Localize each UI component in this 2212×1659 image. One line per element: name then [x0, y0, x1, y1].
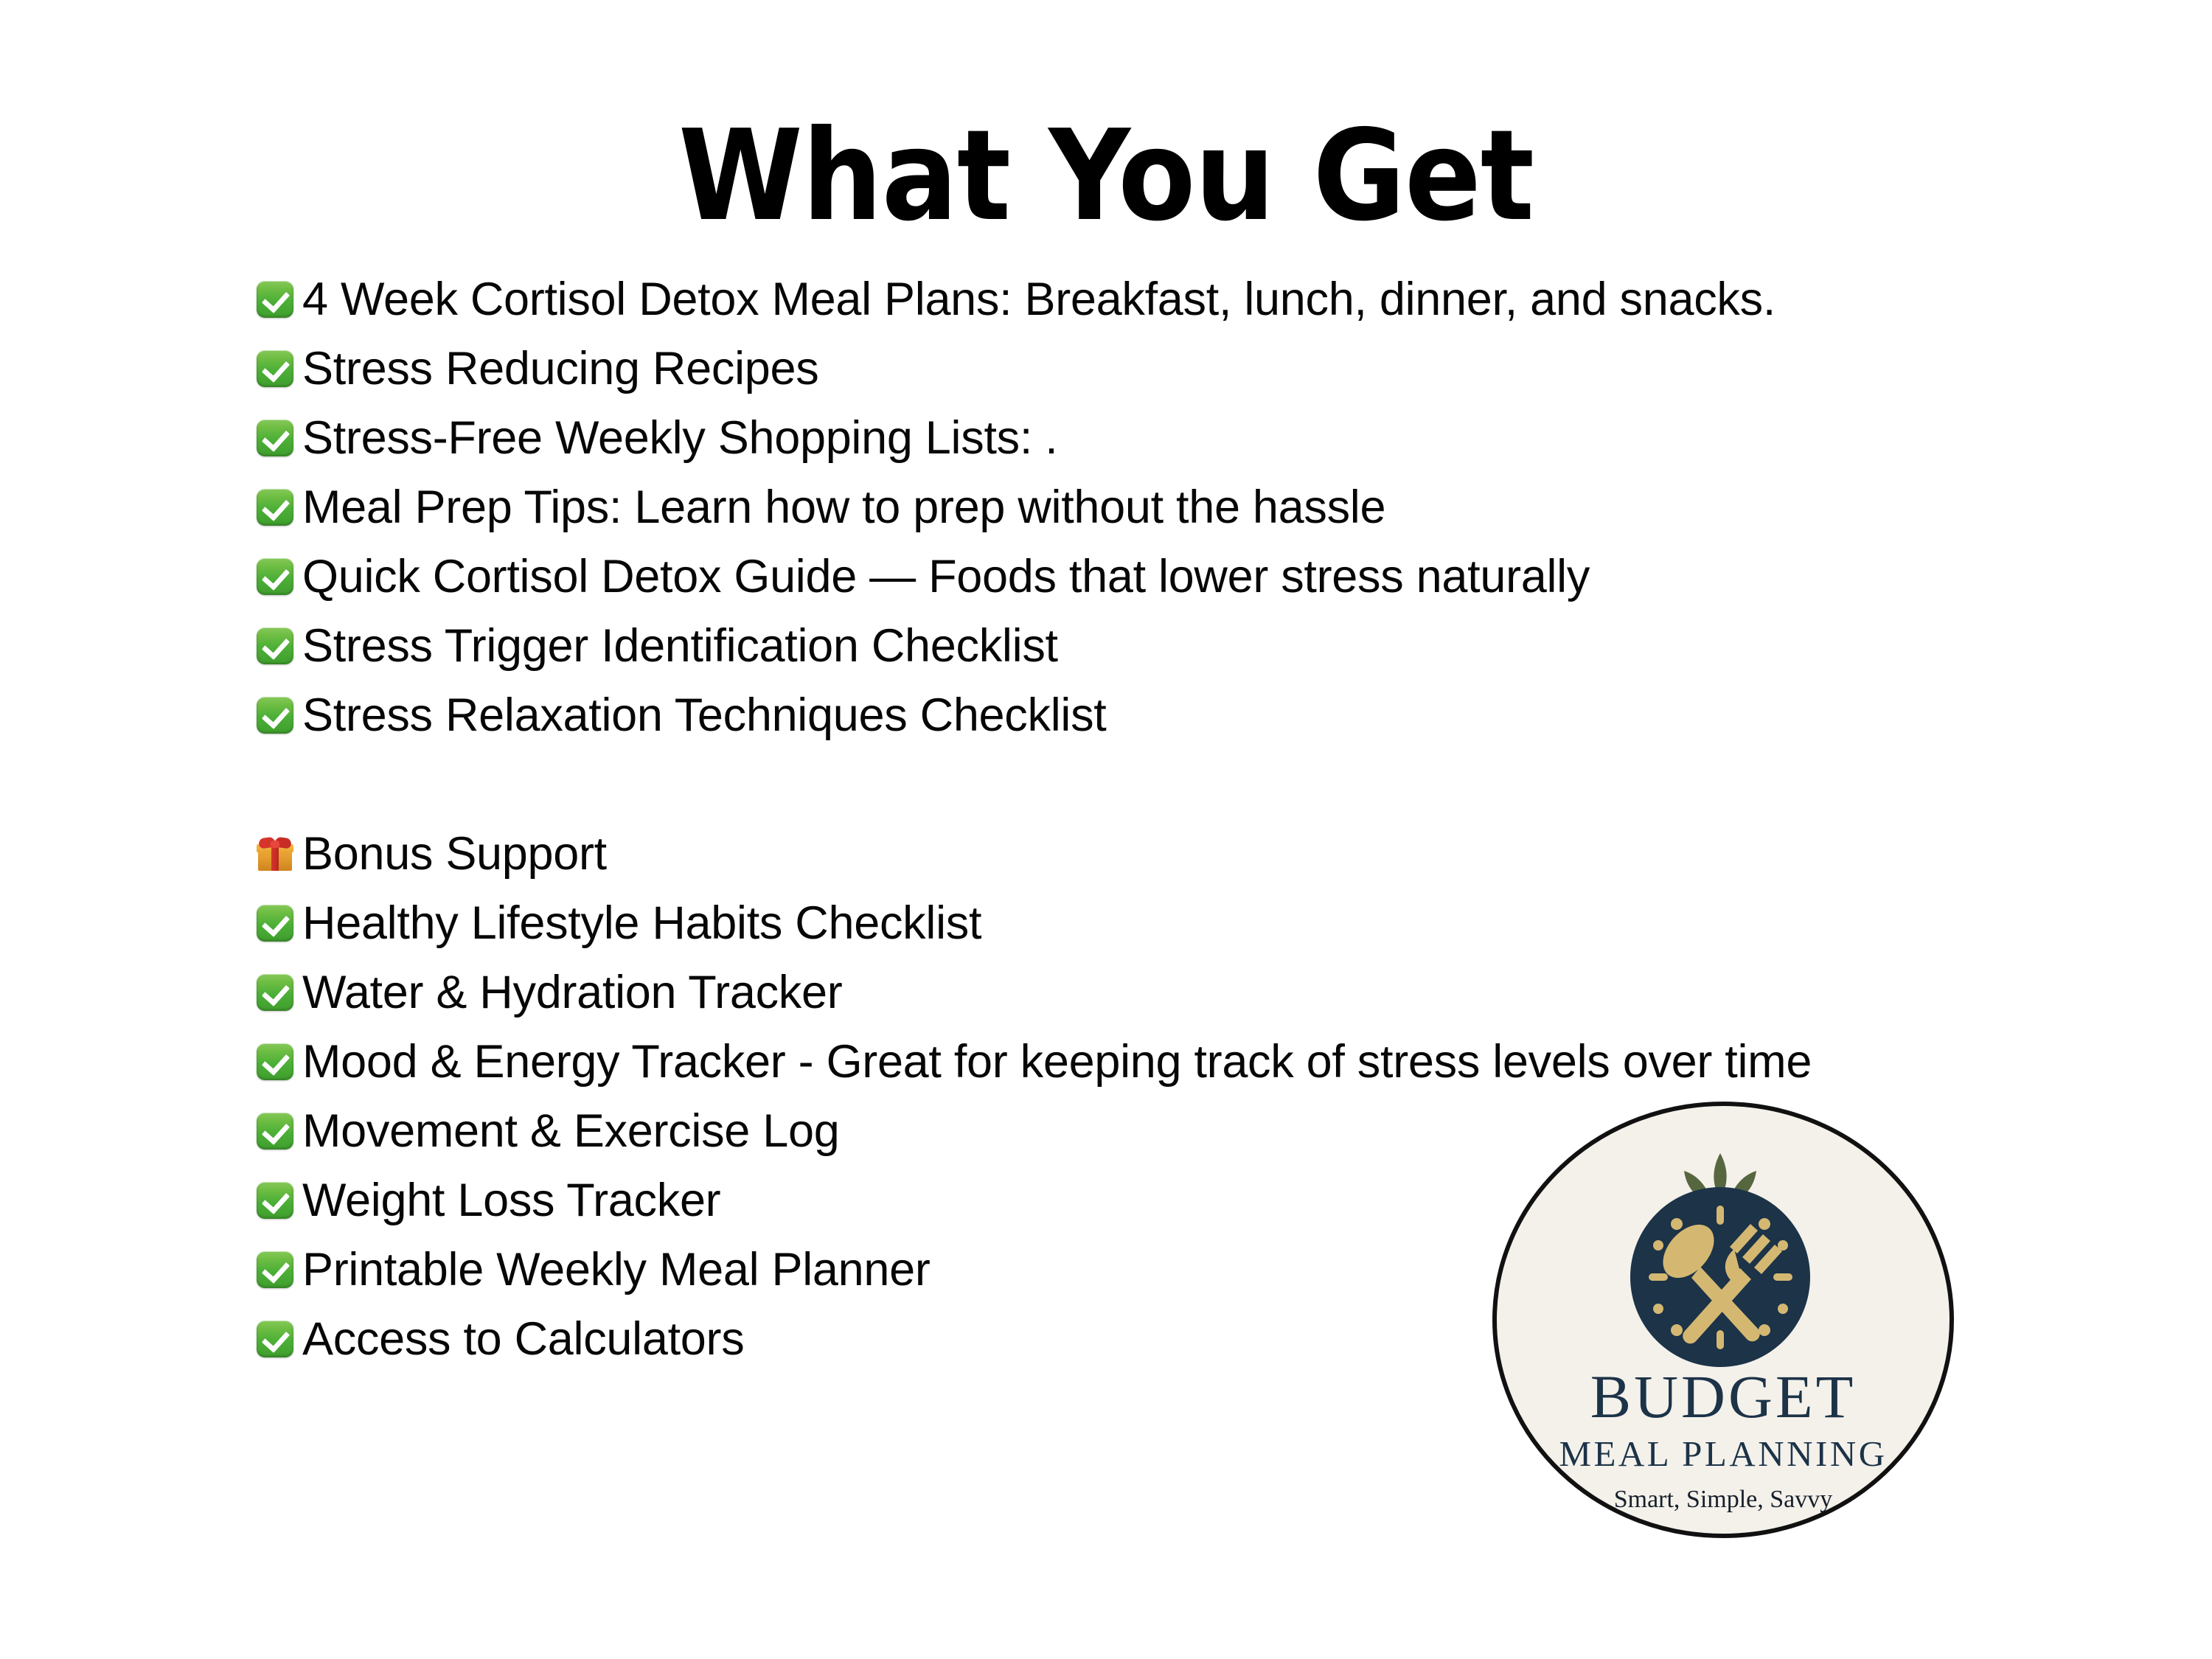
check-mark-button-icon: [257, 489, 293, 526]
logo-brand-secondary: MEAL PLANNING: [1559, 1433, 1887, 1474]
list-item-label: Stress Reducing Recipes: [302, 341, 2144, 397]
list-item-label: Stress-Free Weekly Shopping Lists: .: [302, 410, 2144, 466]
check-mark-button-icon: [257, 905, 293, 942]
check-mark-button-icon: [257, 1043, 293, 1080]
list-item-bonus-heading: Bonus Support: [257, 826, 2144, 895]
check-mark-button-icon: [257, 1321, 293, 1357]
list-item-label: Meal Prep Tips: Learn how to prep withou…: [302, 479, 2144, 535]
list-item-label: Bonus Support: [302, 826, 2144, 882]
list-item: Meal Prep Tips: Learn how to prep withou…: [257, 479, 2144, 549]
logo-brand-primary: BUDGET: [1590, 1363, 1857, 1430]
list-item: Healthy Lifestyle Habits Checklist: [257, 895, 2144, 964]
list-item-label: Stress Relaxation Techniques Checklist: [302, 687, 2144, 743]
check-mark-button-icon: [257, 974, 293, 1011]
list-item: Stress Reducing Recipes: [257, 341, 2144, 410]
list-item-label: 4 Week Cortisol Detox Meal Plans: Breakf…: [302, 271, 2144, 327]
check-mark-button-icon: [257, 1182, 293, 1219]
list-item: Stress Trigger Identification Checklist: [257, 618, 2144, 687]
list-item: Mood & Energy Tracker - Great for keepin…: [257, 1034, 2144, 1103]
page-title: What You Get: [0, 114, 2212, 239]
check-mark-button-icon: [257, 627, 293, 664]
list-item-label: Mood & Energy Tracker - Great for keepin…: [302, 1034, 2144, 1090]
list-item-label: Water & Hydration Tracker: [302, 964, 2144, 1020]
check-mark-button-icon: [257, 1251, 293, 1288]
list-item-label: Stress Trigger Identification Checklist: [302, 618, 2144, 674]
logo-svg: BUDGET MEAL PLANNING Smart, Simple, Savv…: [1491, 1100, 1955, 1540]
check-mark-button-icon: [257, 420, 293, 456]
list-item: 4 Week Cortisol Detox Meal Plans: Breakf…: [257, 271, 2144, 341]
check-mark-button-icon: [257, 350, 293, 387]
check-mark-button-icon: [257, 281, 293, 318]
check-mark-button-icon: [257, 1113, 293, 1150]
wrapped-gift-icon: [257, 835, 293, 872]
list-item: Stress-Free Weekly Shopping Lists: .: [257, 410, 2144, 479]
check-mark-button-icon: [257, 558, 293, 595]
budget-meal-planning-logo: BUDGET MEAL PLANNING Smart, Simple, Savv…: [1491, 1100, 1955, 1540]
list-item-label: Healthy Lifestyle Habits Checklist: [302, 895, 2144, 951]
list-item: Water & Hydration Tracker: [257, 964, 2144, 1034]
list-item-label: Quick Cortisol Detox Guide — Foods that …: [302, 549, 2144, 605]
check-mark-button-icon: [257, 697, 293, 734]
list-spacer: [257, 757, 2144, 826]
logo-tagline: Smart, Simple, Savvy: [1614, 1486, 1833, 1513]
list-item: Stress Relaxation Techniques Checklist: [257, 687, 2144, 757]
list-item: Quick Cortisol Detox Guide — Foods that …: [257, 549, 2144, 618]
